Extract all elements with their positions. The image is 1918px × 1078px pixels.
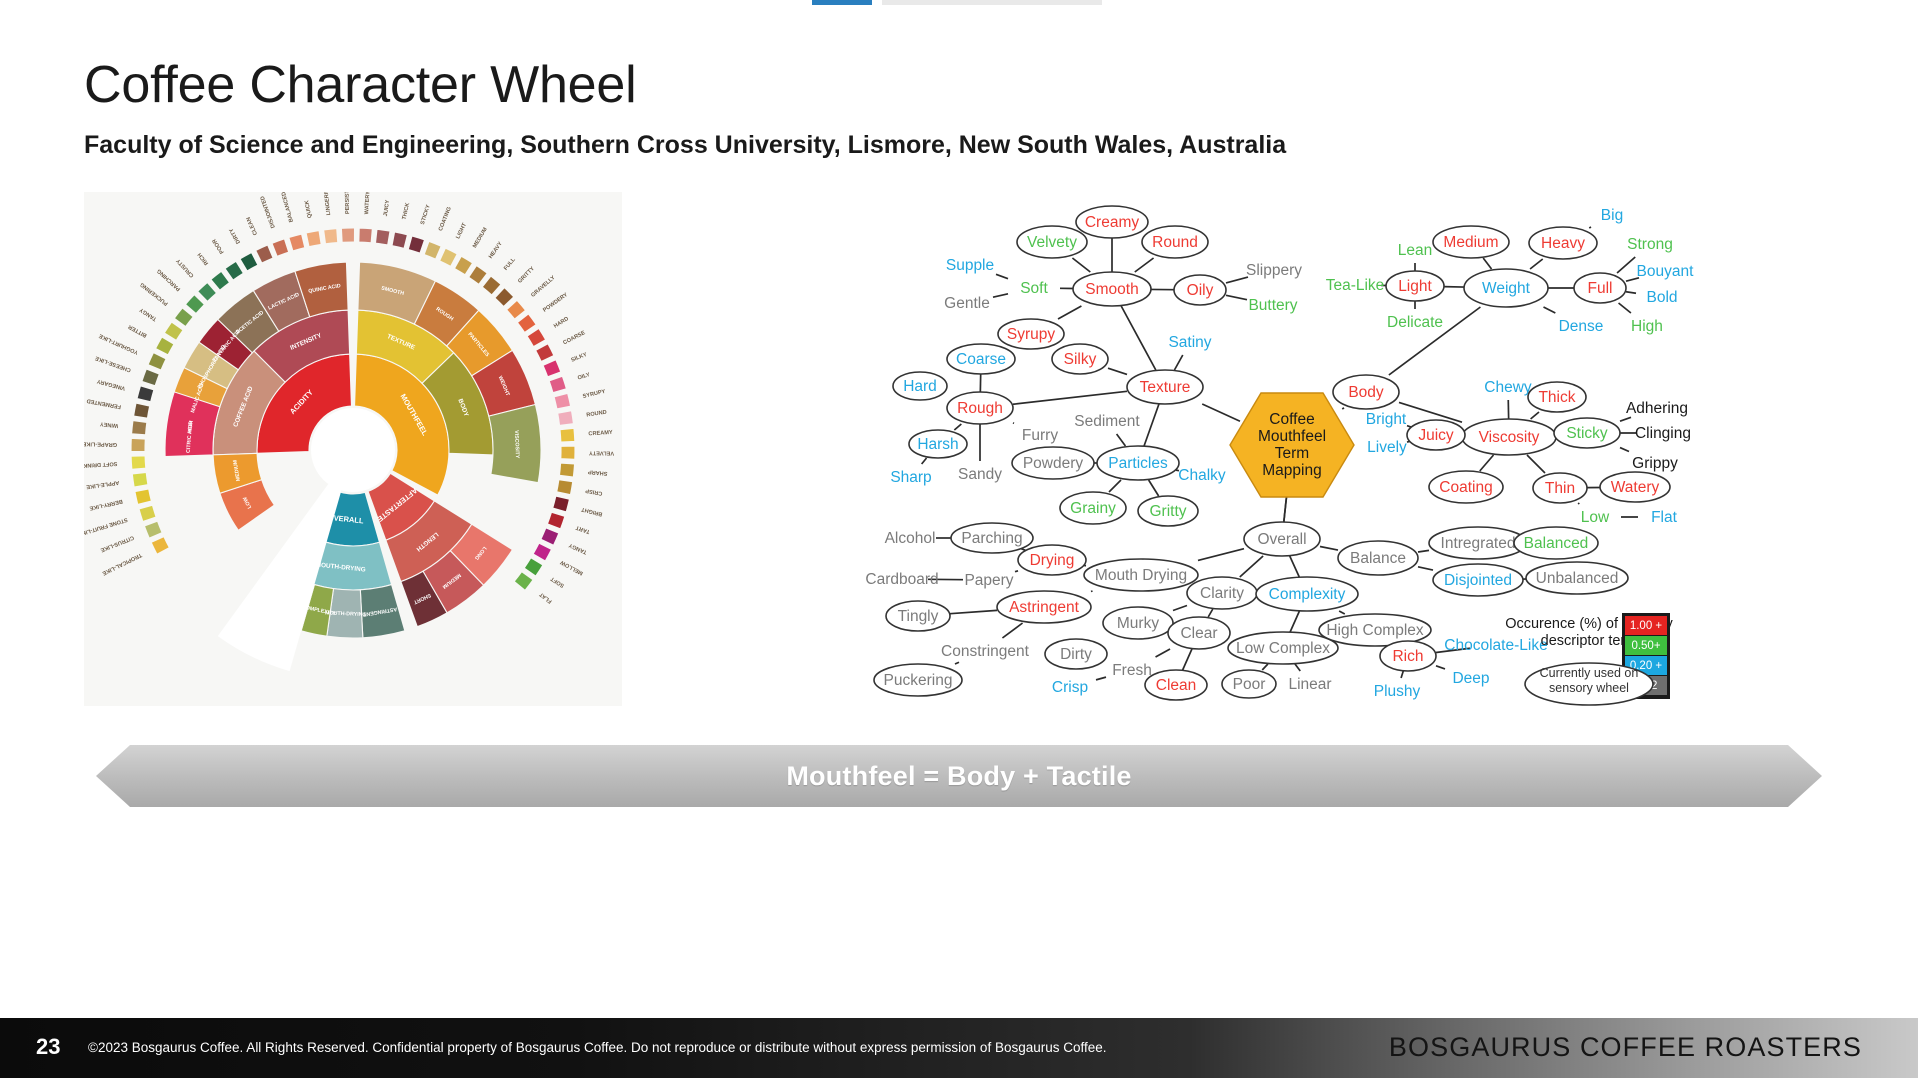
mindmap-node-clarity[interactable]: Clarity [1187, 577, 1257, 609]
mindmap-edge [1483, 258, 1491, 269]
mindmap-node-heavy[interactable]: Heavy [1529, 227, 1597, 259]
mindmap-node-lively[interactable]: Lively [1367, 439, 1407, 456]
wheel-center-hole [311, 408, 395, 492]
center-hexagon-line: Mapping [1262, 462, 1321, 479]
node-label: Round [1152, 234, 1198, 251]
mindmap-node-coarse[interactable]: Coarse [947, 344, 1015, 374]
mindmap-node-puckering[interactable]: Puckering [874, 664, 962, 696]
mindmap-edge [1589, 227, 1591, 228]
mindmap-node-particles[interactable]: Particles [1097, 446, 1179, 480]
wheel-tick [324, 229, 338, 244]
node-label: Satiny [1168, 334, 1211, 351]
mindmap-edge [1262, 664, 1268, 670]
node-label: Delicate [1387, 314, 1443, 331]
legend-ellipse-line: sensory wheel [1549, 681, 1629, 695]
mindmap-edge [1530, 259, 1543, 269]
mindmap-edge [1401, 671, 1403, 678]
mindmap-edge [1135, 258, 1154, 272]
node-label: Particles [1108, 455, 1168, 472]
mindmap-node-grainy[interactable]: Grainy [1060, 492, 1126, 524]
mindmap-edge [1436, 666, 1445, 669]
mindmap-node-sandy[interactable]: Sandy [958, 466, 1002, 483]
mindmap-legend: Occurence (%) of sensorydescriptor term1… [1505, 613, 1673, 705]
node-label: Sticky [1566, 425, 1608, 442]
mindmap-node-papery[interactable]: Papery [964, 572, 1013, 589]
node-label: Linear [1288, 676, 1331, 693]
node-label: Harsh [917, 436, 958, 453]
mindmap-edge [954, 424, 961, 430]
mindmap-node-buttery[interactable]: Buttery [1248, 297, 1297, 314]
mindmap-node-gentle[interactable]: Gentle [944, 295, 990, 312]
node-label: Sediment [1074, 413, 1140, 430]
slide-footer: 23 ©2023 Bosgaurus Coffee. All Rights Re… [0, 1018, 1918, 1078]
mindmap-edge [993, 294, 1008, 297]
coffee-mouthfeel-term-mapping-diagram: CoffeeMouthfeelTermMappingTextureSmoothC… [660, 190, 1910, 710]
mindmap-edge [1109, 480, 1121, 492]
mindmap-edge [1144, 404, 1159, 446]
wheel-tick [557, 480, 573, 495]
mindmap-edge [1149, 480, 1159, 496]
node-label: Plushy [1374, 683, 1421, 700]
node-label: Fresh [1112, 662, 1152, 679]
wheel-tick [392, 232, 407, 248]
node-label: Astringent [1009, 599, 1079, 616]
mindmap-node-astringent[interactable]: Astringent [997, 591, 1091, 623]
mindmap-node-furry[interactable]: Furry [1022, 427, 1058, 444]
node-label: Complexity [1269, 586, 1346, 603]
mindmap-node-bouyant[interactable]: Bouyant [1637, 263, 1695, 280]
node-label: Syrupy [1007, 326, 1055, 343]
node-label: Disjointed [1444, 572, 1512, 589]
mindmap-edge [955, 662, 959, 664]
mindmap-edge [996, 274, 1008, 278]
wheel-tick [559, 463, 574, 477]
node-label: Tingly [898, 608, 939, 625]
mindmap-node-plushy[interactable]: Plushy [1374, 683, 1421, 700]
top-accent-bar [812, 0, 1102, 5]
mindmap-node-overall[interactable]: Overall [1244, 522, 1320, 556]
wheel-tick [375, 229, 390, 245]
mindmap-edge [1015, 571, 1018, 572]
mindmap-node-thick[interactable]: Thick [1528, 382, 1586, 412]
mindmap-node-parching[interactable]: Parching [951, 523, 1033, 553]
mindmap-edge [1013, 391, 1127, 404]
node-label: Grainy [1070, 500, 1116, 517]
wheel-tick [359, 228, 373, 243]
mindmap-edge [1096, 677, 1106, 680]
mindmap-edge [922, 458, 927, 464]
node-label: Oily [1187, 282, 1214, 299]
mindmap-node-complexity[interactable]: Complexity [1256, 577, 1358, 611]
node-label: Constringent [941, 643, 1030, 660]
mindmap-edge [1626, 292, 1636, 293]
mindmap-node-strong[interactable]: Strong [1627, 236, 1673, 253]
mindmap-edge [1290, 556, 1300, 577]
center-hexagon-line: Mouthfeel [1258, 428, 1326, 445]
node-label: Bright [1366, 411, 1407, 428]
legend-ellipse-line: Currently used on [1540, 666, 1639, 680]
mindmap-edge [1290, 611, 1299, 632]
mindmap-node-chewy[interactable]: Chewy [1484, 379, 1532, 396]
mindmap-node-coating[interactable]: Coating [1429, 471, 1503, 503]
mindmap-node-smooth[interactable]: Smooth [1073, 272, 1151, 306]
mindmap-node-alcohol[interactable]: Alcohol [885, 530, 936, 547]
mindmap-node-sticky[interactable]: Sticky [1554, 418, 1620, 448]
mindmap-node-linear[interactable]: Linear [1288, 676, 1331, 693]
wheel-tick [561, 446, 575, 459]
node-label: Low [1581, 509, 1610, 526]
node-label: Hard [903, 378, 937, 395]
node-label: Crisp [1052, 679, 1088, 696]
mindmap-edge [950, 610, 997, 613]
mindmap-edge [1121, 306, 1156, 370]
mindmap-edge [1058, 306, 1081, 319]
mindmap-edge [1418, 550, 1429, 552]
node-label: Gritty [1149, 503, 1186, 520]
node-label: Watery [1611, 479, 1660, 496]
node-label: Chocolate-Like [1444, 637, 1547, 654]
mindmap-node-round[interactable]: Round [1142, 226, 1208, 258]
node-label: Balance [1350, 550, 1406, 567]
node-label: Clarity [1200, 585, 1244, 602]
page-subtitle: Faculty of Science and Engineering, Sout… [84, 131, 1286, 160]
mindmap-node-chocolatelike[interactable]: Chocolate-Like [1444, 637, 1547, 654]
mindmap-node-balanced[interactable]: Balanced [1514, 527, 1598, 559]
node-label: Overall [1257, 531, 1306, 548]
node-label: Furry [1022, 427, 1058, 444]
node-label: Texture [1140, 379, 1191, 396]
node-label: Gentle [944, 295, 990, 312]
mindmap-node-cardboard[interactable]: Cardboard [865, 571, 938, 588]
mindmap-node-fresh[interactable]: Fresh [1112, 662, 1152, 679]
mindmap-edge [1544, 307, 1556, 313]
mindmap-node-viscosity[interactable]: Viscosity [1462, 419, 1556, 455]
wheel-segment-label: VISCOSITY [513, 430, 520, 459]
node-label: High Complex [1326, 622, 1424, 639]
mindmap-edge [1198, 549, 1244, 561]
node-label: Chalky [1178, 467, 1226, 484]
mindmap-node-rich[interactable]: Rich [1380, 641, 1436, 671]
node-label: Grippy [1632, 455, 1678, 472]
mindmap-edge [1320, 547, 1338, 551]
node-label: Murky [1117, 615, 1159, 632]
node-label: High [1631, 318, 1663, 335]
node-label: Alcohol [885, 530, 936, 547]
mindmap-node-delicate[interactable]: Delicate [1387, 314, 1443, 331]
wheel-tick [135, 489, 151, 504]
node-label: Viscosity [1479, 429, 1540, 446]
mindmap-edge [1002, 623, 1022, 638]
node-label: Powdery [1023, 455, 1084, 472]
node-label: Juicy [1418, 427, 1454, 444]
mindmap-node-clinging[interactable]: Clinging [1635, 425, 1691, 442]
node-label: Medium [1443, 234, 1498, 251]
mindmap-edge [1418, 567, 1433, 570]
node-label: Thin [1545, 480, 1575, 497]
mindmap-node-center[interactable]: CoffeeMouthfeelTermMapping [1230, 393, 1354, 497]
mindmap-node-supple[interactable]: Supple [946, 257, 994, 274]
center-hexagon-line: Term [1275, 445, 1309, 462]
node-label: Cardboard [865, 571, 938, 588]
wheel-tick [132, 421, 147, 435]
mindmap-node-velvety[interactable]: Velvety [1017, 226, 1087, 258]
wheel-outer-label: VELVETY [589, 449, 614, 455]
mindmap-node-chalky[interactable]: Chalky [1178, 467, 1226, 484]
mindmap-node-full[interactable]: Full [1574, 273, 1626, 303]
mindmap-node-soft[interactable]: Soft [1020, 280, 1048, 297]
mindmap-node-silky[interactable]: Silky [1052, 344, 1108, 374]
mindmap-node-texture[interactable]: Texture [1127, 370, 1203, 404]
mindmap-edge [1202, 404, 1240, 421]
page-number: 23 [36, 1034, 60, 1060]
node-label: Coating [1439, 479, 1492, 496]
mindmap-edge [1620, 417, 1631, 421]
node-label: Clear [1180, 625, 1217, 642]
mindmap-node-grippy[interactable]: Grippy [1632, 455, 1678, 472]
mindmap-node-weight[interactable]: Weight [1464, 269, 1548, 307]
banner-label: Mouthfeel = Body + Tactile [96, 745, 1822, 807]
mindmap-node-dirty[interactable]: Dirty [1045, 639, 1107, 669]
mindmap-node-balance[interactable]: Balance [1338, 541, 1418, 575]
wheel-tick [131, 438, 145, 451]
brand-wordmark: BOSGAURUS COFFEE ROASTERS [1389, 1032, 1862, 1063]
mindmap-edge [1208, 609, 1213, 617]
mindmap-node-intregrated[interactable]: Intregrated [1429, 527, 1527, 559]
mindmap-node-sediment[interactable]: Sediment [1074, 413, 1140, 430]
coffee-sunburst-wheel: ACIDITYMOUTHFEELAFTERTASTEOVERALLCOFFEE … [84, 192, 622, 706]
legend-swatch-label: 1.00 + [1630, 620, 1663, 632]
wheel-tick [132, 472, 148, 487]
node-label: Thick [1538, 389, 1575, 406]
node-label: Puckering [884, 672, 953, 689]
mindmap-edge [1531, 412, 1539, 419]
node-label: Poor [1233, 676, 1266, 693]
accent-segment-blue [812, 0, 872, 5]
mindmap-node-light[interactable]: Light [1386, 271, 1444, 301]
node-label: Intregrated [1441, 535, 1516, 552]
mindmap-node-clear[interactable]: Clear [1168, 617, 1230, 649]
node-label: Weight [1482, 280, 1531, 297]
mindmap-node-harsh[interactable]: Harsh [909, 430, 967, 458]
center-hexagon-line: Coffee [1269, 411, 1314, 428]
mindmap-node-mouthdrying[interactable]: Mouth Drying [1084, 559, 1198, 591]
mindmap-node-dense[interactable]: Dense [1559, 318, 1604, 335]
mindmap-node-sharp[interactable]: Sharp [890, 469, 931, 486]
mindmap-edge [1072, 258, 1090, 272]
mindmap-node-oily[interactable]: Oily [1174, 275, 1226, 305]
wheel-tick [131, 456, 146, 470]
node-label: Chewy [1484, 379, 1532, 396]
node-label: Bold [1646, 289, 1677, 306]
mindmap-edge [1295, 664, 1300, 671]
node-label: Deep [1452, 670, 1489, 687]
mindmap-edge [1173, 606, 1187, 611]
mindmap-node-constringent[interactable]: Constringent [941, 643, 1030, 660]
node-label: Smooth [1085, 281, 1138, 298]
mindmap-edge [1108, 368, 1127, 374]
mindmap-node-high[interactable]: High [1631, 318, 1663, 335]
wheel-tick [134, 403, 150, 418]
mindmap-node-creamy[interactable]: Creamy [1076, 206, 1148, 238]
mindmap-node-drying[interactable]: Drying [1018, 545, 1086, 575]
mindmap-edge [1527, 455, 1545, 473]
node-label: Sharp [890, 469, 931, 486]
mindmap-edge [1620, 448, 1629, 452]
node-label: Lively [1367, 439, 1407, 456]
mindmap-node-hard[interactable]: Hard [893, 372, 947, 400]
node-label: Lean [1398, 242, 1432, 259]
node-label: Supple [946, 257, 994, 274]
node-label: Clinging [1635, 425, 1691, 442]
copyright-notice: ©2023 Bosgaurus Coffee. All Rights Reser… [88, 1040, 1107, 1055]
summary-banner: Mouthfeel = Body + Tactile [96, 745, 1822, 807]
node-label: Slippery [1246, 262, 1302, 279]
mindmap-node-body[interactable]: Body [1333, 375, 1399, 409]
mindmap-edge [1480, 455, 1494, 471]
mindmap-edge [1156, 649, 1170, 657]
node-label: Coarse [956, 351, 1006, 368]
node-label: Big [1601, 207, 1623, 224]
node-label: Silky [1064, 351, 1097, 368]
mindmap-node-lean[interactable]: Lean [1398, 242, 1432, 259]
mindmap-node-clean[interactable]: Clean [1145, 670, 1207, 700]
mindmap-node-poor[interactable]: Poor [1222, 670, 1276, 698]
mindmap-node-lowcomplex[interactable]: Low Complex [1228, 632, 1338, 664]
node-label: Clean [1156, 677, 1197, 694]
node-label: Sandy [958, 466, 1002, 483]
wheel-tick [341, 228, 354, 242]
mindmap-node-bold[interactable]: Bold [1646, 289, 1677, 306]
node-label: Flat [1651, 509, 1678, 526]
mindmap-edge [1183, 649, 1192, 670]
node-label: Rich [1392, 648, 1423, 665]
node-label: Mouth Drying [1095, 567, 1187, 584]
node-label: Strong [1627, 236, 1673, 253]
mindmap-node-medium[interactable]: Medium [1433, 226, 1509, 258]
mindmap-node-thin[interactable]: Thin [1533, 473, 1587, 503]
mindmap-edge [1339, 611, 1345, 614]
wheel-tick [558, 411, 574, 426]
node-label: Body [1348, 384, 1384, 401]
node-label: Light [1398, 278, 1432, 295]
node-label: Velvety [1027, 234, 1077, 251]
node-label: Parching [961, 530, 1022, 547]
node-label: Papery [964, 572, 1013, 589]
mindmap-node-crisp[interactable]: Crisp [1052, 679, 1088, 696]
mindmap-node-tingly[interactable]: Tingly [886, 601, 950, 631]
mindmap-node-gritty[interactable]: Gritty [1138, 496, 1198, 526]
wheel-tick [306, 231, 321, 247]
mindmap-node-low[interactable]: Low [1581, 509, 1610, 526]
node-label: Balanced [1524, 535, 1589, 552]
node-label: Creamy [1085, 214, 1140, 231]
mindmap-edge [1619, 303, 1631, 313]
legend-swatch-label: 0.50+ [1631, 640, 1660, 652]
wheel-tick [560, 428, 575, 442]
mindmap-edge [1578, 503, 1579, 504]
mindmap-edge [1226, 277, 1248, 283]
mindmap-node-deep[interactable]: Deep [1452, 670, 1489, 687]
accent-segment-gap [872, 0, 882, 5]
node-label: Soft [1020, 280, 1048, 297]
wheel-outer-label: PERSISTENT [344, 192, 351, 214]
mindmap-edge [1342, 408, 1344, 409]
mindmap-node-flat[interactable]: Flat [1651, 509, 1678, 526]
mindmap-edge [1617, 257, 1635, 273]
mindmap-edge [1240, 556, 1263, 577]
mindmap-node-juicy[interactable]: Juicy [1407, 420, 1465, 450]
mindmap-edge [1226, 295, 1247, 299]
mindmap-node-adhering[interactable]: Adhering [1626, 400, 1688, 417]
node-label: Tea-Like [1326, 277, 1385, 294]
node-label: Unbalanced [1536, 570, 1619, 587]
mindmap-edge [1117, 434, 1126, 446]
mindmap-node-disjointed[interactable]: Disjointed [1433, 564, 1523, 596]
node-label: Heavy [1541, 235, 1585, 252]
node-label: Drying [1030, 552, 1075, 569]
mindmap-node-powdery[interactable]: Powdery [1012, 447, 1094, 479]
coffee-wheel-svg: ACIDITYMOUTHFEELAFTERTASTEOVERALLCOFFEE … [84, 192, 622, 706]
node-label: Buttery [1248, 297, 1297, 314]
mindmap-node-big[interactable]: Big [1601, 207, 1623, 224]
mindmap-node-watery[interactable]: Watery [1600, 472, 1670, 502]
node-label: Dense [1559, 318, 1604, 335]
node-label: Dirty [1060, 646, 1092, 663]
page-title: Coffee Character Wheel [84, 55, 636, 115]
mindmap-edge [1174, 355, 1182, 370]
wheel-outer-label: GRAPE-LIKE [84, 440, 117, 447]
mindmap-node-syrupy[interactable]: Syrupy [998, 319, 1064, 349]
node-label: Adhering [1626, 400, 1688, 417]
mindmap-edge [1399, 402, 1462, 422]
accent-segment-gray [882, 0, 1102, 5]
node-label: Full [1588, 280, 1613, 297]
mindmap-node-slippery[interactable]: Slippery [1246, 262, 1302, 279]
node-label: Bouyant [1637, 263, 1695, 280]
node-label: Rough [957, 400, 1003, 417]
mindmap-node-tealike[interactable]: Tea-Like [1326, 277, 1385, 294]
mindmap-node-unbalanced[interactable]: Unbalanced [1526, 562, 1628, 594]
mindmap-node-murky[interactable]: Murky [1103, 607, 1173, 639]
mindmap-node-rough[interactable]: Rough [947, 392, 1013, 424]
mindmap-node-bright[interactable]: Bright [1366, 411, 1407, 428]
mindmap-node-satiny[interactable]: Satiny [1168, 334, 1211, 351]
mindmap-svg: CoffeeMouthfeelTermMappingTextureSmoothC… [660, 190, 1910, 710]
node-label: Low Complex [1236, 640, 1330, 657]
